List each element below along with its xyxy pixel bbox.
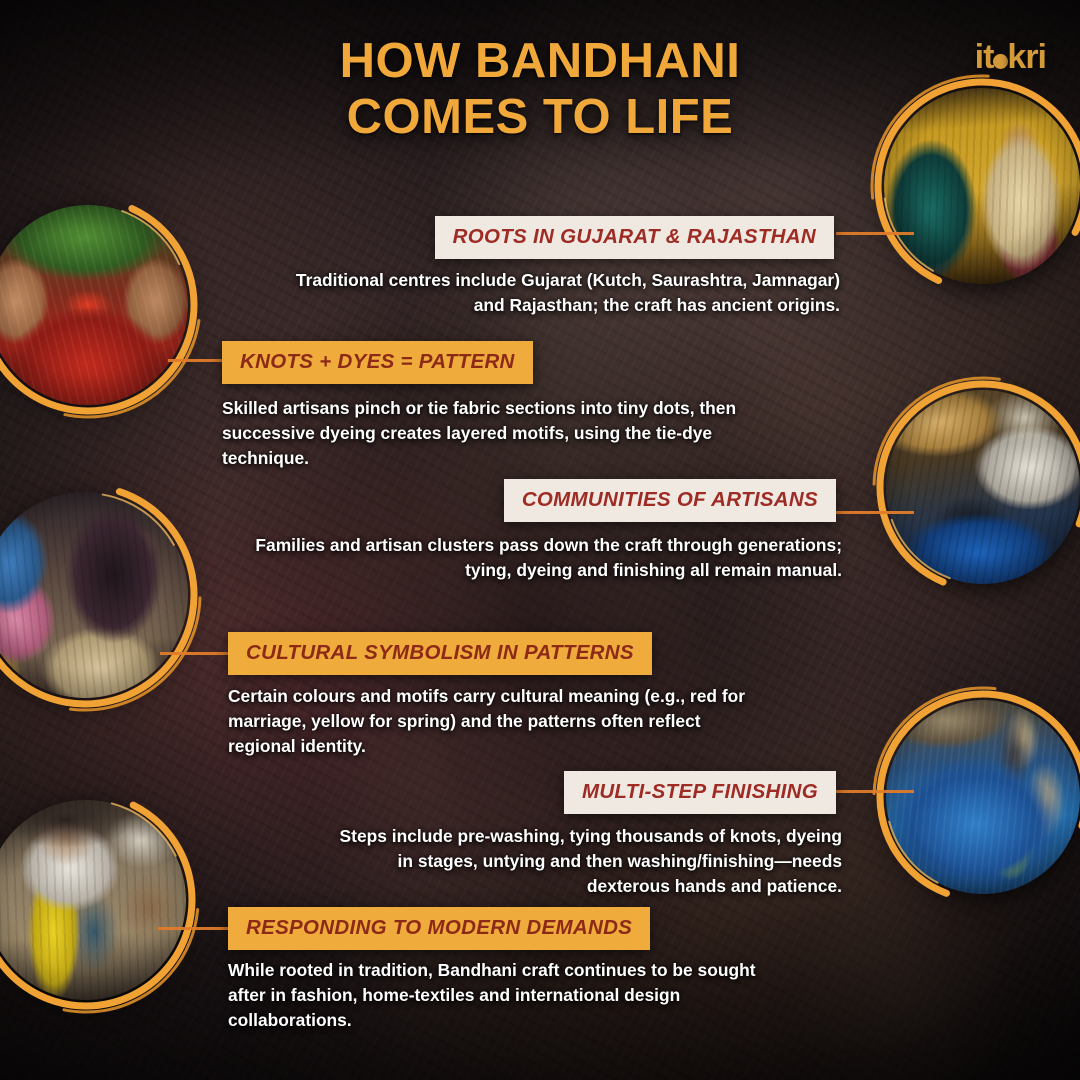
section-body-knots: Skilled artisans pinch or tie fabric sec…	[222, 396, 750, 471]
heading-text: CULTURAL SYMBOLISM IN PATTERNS	[246, 641, 634, 664]
title-line-1: HOW BANDHANI	[340, 34, 741, 88]
heading-text: RESPONDING TO MODERN DEMANDS	[246, 916, 632, 939]
section-heading-modern[interactable]: RESPONDING TO MODERN DEMANDS	[228, 907, 650, 950]
connector-line-knots	[168, 359, 230, 362]
connector-line-modern	[158, 927, 230, 930]
section-heading-finishing[interactable]: MULTI-STEP FINISHING	[564, 771, 836, 814]
photo-image	[886, 700, 1080, 894]
connector-line-roots	[836, 232, 914, 235]
photo-image	[886, 390, 1080, 584]
heading-text: COMMUNITIES OF ARTISANS	[522, 488, 818, 511]
section-body-communities: Families and artisan clusters pass down …	[236, 533, 842, 583]
connector-line-communities	[836, 511, 914, 514]
photo-artisan-lifting-yellow-cloth	[0, 800, 186, 1000]
section-heading-symbolism[interactable]: CULTURAL SYMBOLISM IN PATTERNS	[228, 632, 652, 675]
connector-line-finishing	[836, 790, 914, 793]
section-heading-communities[interactable]: COMMUNITIES OF ARTISANS	[504, 479, 836, 522]
section-body-symbolism: Certain colours and motifs carry cultura…	[228, 684, 762, 759]
photo-image	[0, 205, 188, 405]
photo-hands-red-fabric-knots	[0, 205, 188, 405]
photo-artisan-blue-dye-tub	[886, 390, 1080, 584]
photo-indigo-vat-yellow-cloth	[886, 700, 1080, 894]
heading-text: MULTI-STEP FINISHING	[582, 780, 818, 803]
photo-tying-women-yellow-wall	[884, 88, 1080, 284]
connector-line-symbolism	[160, 652, 230, 655]
section-heading-knots[interactable]: KNOTS + DYES = PATTERN	[222, 341, 533, 384]
infographic-canvas: HOW BANDHANI COMES TO LIFE itkri	[0, 0, 1080, 1080]
photo-image	[0, 492, 188, 698]
heading-text: KNOTS + DYES = PATTERN	[240, 350, 515, 373]
photo-image	[884, 88, 1080, 284]
photo-image	[0, 800, 186, 1000]
logo-text-pre: it	[975, 38, 994, 76]
heading-text: ROOTS IN GUJARAT & RAJASTHAN	[453, 225, 816, 248]
itokri-logo[interactable]: itkri	[975, 38, 1046, 77]
section-body-finishing: Steps include pre-washing, tying thousan…	[320, 824, 842, 899]
section-heading-roots[interactable]: ROOTS IN GUJARAT & RAJASTHAN	[435, 216, 834, 259]
photo-women-tying-cream-fabric	[0, 492, 188, 698]
section-body-modern: While rooted in tradition, Bandhani craf…	[228, 958, 776, 1033]
logo-text-mid: kri	[1007, 38, 1046, 76]
section-body-roots: Traditional centres include Gujarat (Kut…	[268, 268, 840, 318]
